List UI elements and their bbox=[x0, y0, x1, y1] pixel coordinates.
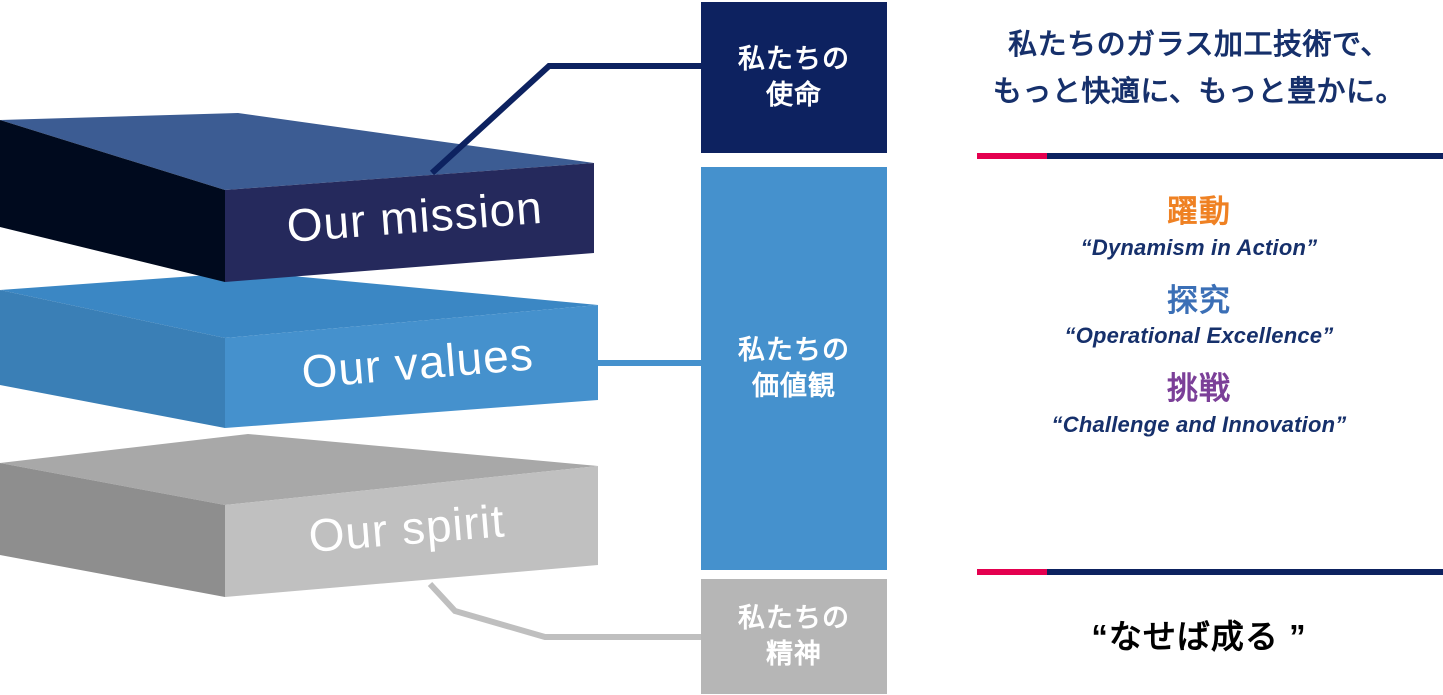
slab-mission[interactable]: Our mission bbox=[0, 113, 594, 282]
value-challenge-jp: 挑戦 bbox=[955, 370, 1443, 409]
divider-top bbox=[977, 153, 1443, 159]
value-item-dynamism: 躍動 “Dynamism in Action” bbox=[955, 193, 1443, 264]
callout-mission-line1: 私たちの bbox=[738, 42, 850, 78]
divider-bottom-main-segment bbox=[1047, 569, 1443, 575]
value-item-excellence: 探究 “Operational Excellence” bbox=[955, 282, 1443, 353]
callout-mission-line2: 使命 bbox=[738, 78, 850, 114]
divider-bottom-accent-segment bbox=[977, 569, 1047, 575]
value-excellence-jp: 探究 bbox=[955, 282, 1443, 321]
value-excellence-en: “Operational Excellence” bbox=[955, 320, 1443, 352]
callout-box-spirit[interactable]: 私たちの 精神 bbox=[701, 579, 887, 694]
slab-spirit[interactable]: Our spirit bbox=[0, 434, 598, 597]
callout-values-line2: 価値観 bbox=[738, 369, 850, 405]
headline: 私たちのガラス加工技術で、 もっと快適に、もっと豊かに。 bbox=[955, 22, 1443, 116]
value-dynamism-jp: 躍動 bbox=[955, 193, 1443, 232]
company-motto: “なせば成る ” bbox=[955, 610, 1443, 658]
callout-values-line1: 私たちの bbox=[738, 333, 850, 369]
divider-top-accent-segment bbox=[977, 153, 1047, 159]
callout-box-mission[interactable]: 私たちの 使命 bbox=[701, 2, 887, 153]
mission-statement-panel: 私たちのガラス加工技術で、 もっと快適に、もっと豊かに。 躍動 “Dynamis… bbox=[955, 0, 1443, 695]
divider-top-main-segment bbox=[1047, 153, 1443, 159]
callout-spirit-line1: 私たちの bbox=[738, 601, 850, 637]
callout-box-values[interactable]: 私たちの 価値観 bbox=[701, 167, 887, 570]
value-dynamism-en: “Dynamism in Action” bbox=[955, 232, 1443, 264]
callout-spirit-line2: 精神 bbox=[738, 637, 850, 673]
connector-spirit bbox=[430, 584, 701, 637]
headline-line-2: もっと快適に、もっと豊かに。 bbox=[955, 69, 1443, 116]
slide-canvas: Our spirit Our values Our mission 私たちの 使… bbox=[0, 0, 1443, 695]
value-challenge-en: “Challenge and Innovation” bbox=[955, 409, 1443, 441]
value-item-challenge: 挑戦 “Challenge and Innovation” bbox=[955, 370, 1443, 441]
headline-line-1: 私たちのガラス加工技術で、 bbox=[955, 22, 1443, 69]
divider-bottom bbox=[977, 569, 1443, 575]
core-values-list: 躍動 “Dynamism in Action” 探究 “Operational … bbox=[955, 193, 1443, 459]
slab-values[interactable]: Our values bbox=[0, 272, 598, 428]
